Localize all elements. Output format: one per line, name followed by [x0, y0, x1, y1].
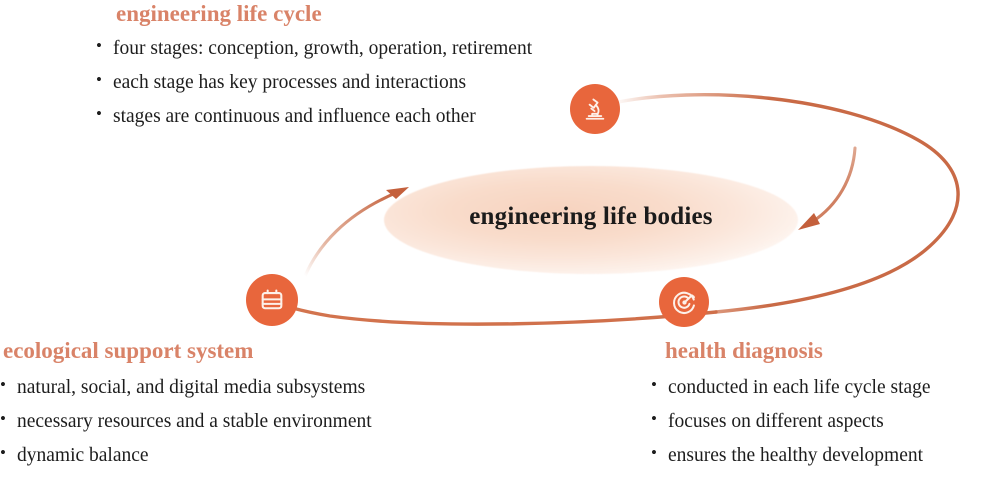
- inner-arrow-right-head: [798, 213, 820, 230]
- bullet-list-ecological-support-system: natural, social, and digital media subsy…: [0, 376, 372, 478]
- bullet-list-health-diagnosis: conducted in each life cycle stage focus…: [651, 376, 931, 478]
- microscope-icon: [582, 96, 608, 122]
- list-item: four stages: conception, growth, operati…: [96, 37, 532, 60]
- center-label: engineering life bodies: [384, 203, 798, 231]
- gauge-chart-icon: [671, 289, 698, 316]
- list-item: necessary resources and a stable environ…: [0, 410, 372, 433]
- diagram-canvas: engineering life bodies: [0, 0, 1000, 481]
- heading-engineering-life-cycle: engineering life cycle: [116, 1, 322, 27]
- list-item: conducted in each life cycle stage: [651, 376, 931, 399]
- inner-arrow-right: [812, 148, 855, 222]
- list-item: each stage has key processes and interac…: [96, 71, 532, 94]
- calendar-icon: [259, 287, 285, 313]
- list-item: natural, social, and digital media subsy…: [0, 376, 372, 399]
- list-item: ensures the healthy development: [651, 444, 931, 467]
- list-item: dynamic balance: [0, 444, 372, 467]
- calendar-badge[interactable]: [246, 274, 298, 326]
- bullet-list-engineering-life-cycle: four stages: conception, growth, operati…: [96, 37, 532, 139]
- orbit-path-lower: [268, 299, 716, 324]
- list-item: stages are continuous and influence each…: [96, 105, 532, 128]
- list-item: focuses on different aspects: [651, 410, 931, 433]
- heading-ecological-support-system: ecological support system: [3, 338, 253, 364]
- microscope-badge[interactable]: [570, 84, 620, 134]
- heading-health-diagnosis: health diagnosis: [665, 338, 823, 364]
- gauge-chart-badge[interactable]: [659, 277, 709, 327]
